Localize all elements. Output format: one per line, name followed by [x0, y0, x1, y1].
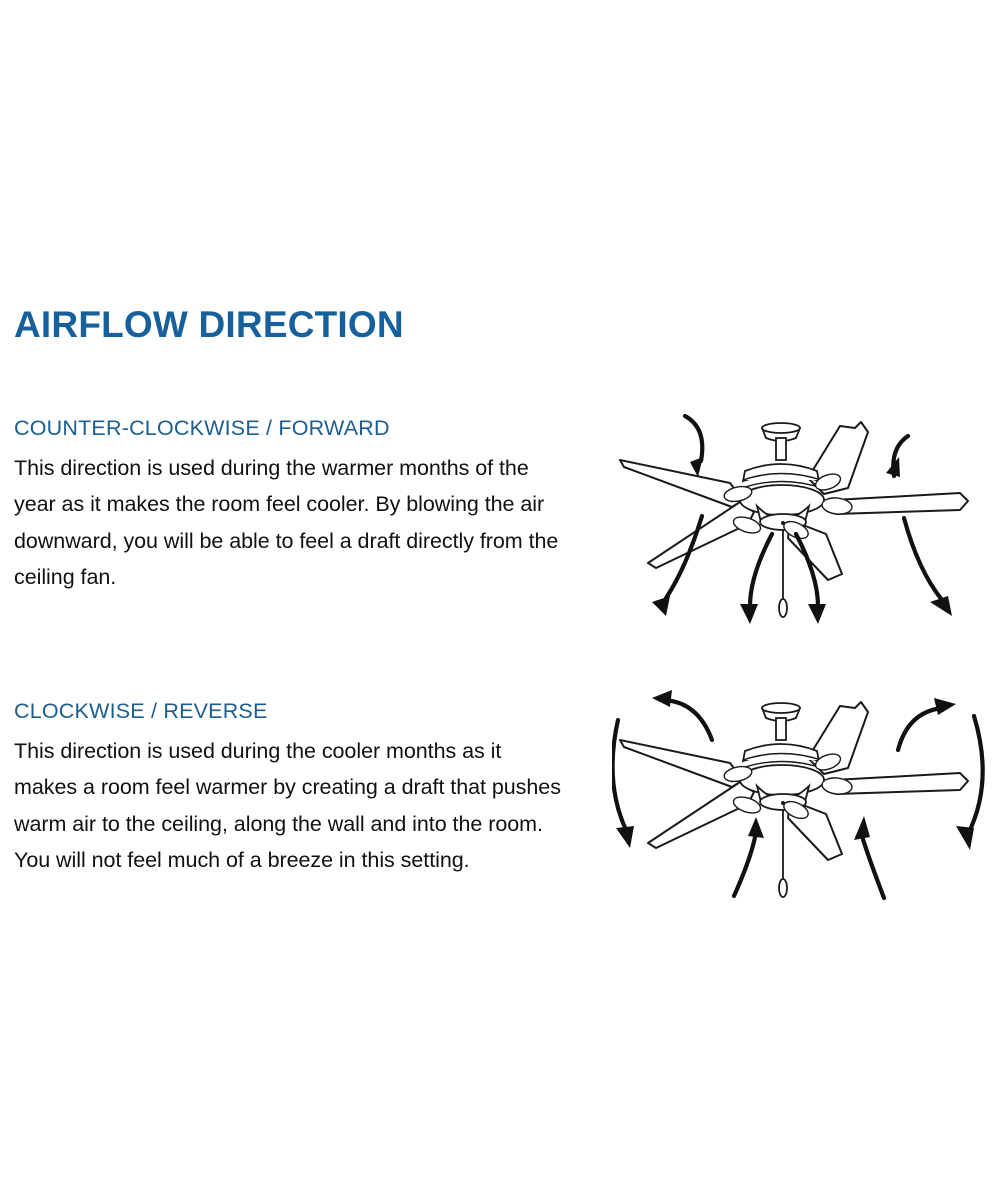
section-heading-counter-clockwise: COUNTER-CLOCKWISE / FORWARD: [14, 417, 574, 441]
section-heading-clockwise: CLOCKWISE / REVERSE: [14, 700, 574, 724]
arrow-up-right-over-top: [898, 698, 956, 750]
arrow-down-right-outward: [904, 518, 952, 616]
arrow-up-left-over-top: [652, 690, 712, 740]
arrow-down-upper-left: [685, 416, 703, 477]
ceiling-fan-forward-airflow-diagram: [612, 408, 1000, 648]
section-counter-clockwise: COUNTER-CLOCKWISE / FORWARD This directi…: [14, 417, 574, 596]
arrow-up-center-left: [734, 817, 764, 896]
arrow-up-center-right: [854, 816, 884, 898]
arrow-down-center-left: [740, 534, 772, 624]
arrow-down-upper-right: [886, 436, 908, 477]
section-body-clockwise: This direction is used during the cooler…: [14, 733, 566, 879]
page-title: AIRFLOW DIRECTION: [14, 306, 404, 345]
section-clockwise: CLOCKWISE / REVERSE This direction is us…: [14, 700, 574, 879]
ceiling-fan-reverse-airflow-diagram: [612, 688, 1000, 923]
section-body-counter-clockwise: This direction is used during the warmer…: [14, 450, 566, 596]
arrow-outer-left-down: [613, 720, 634, 848]
page-canvas: AIRFLOW DIRECTION COUNTER-CLOCKWISE / FO…: [0, 0, 1000, 1200]
